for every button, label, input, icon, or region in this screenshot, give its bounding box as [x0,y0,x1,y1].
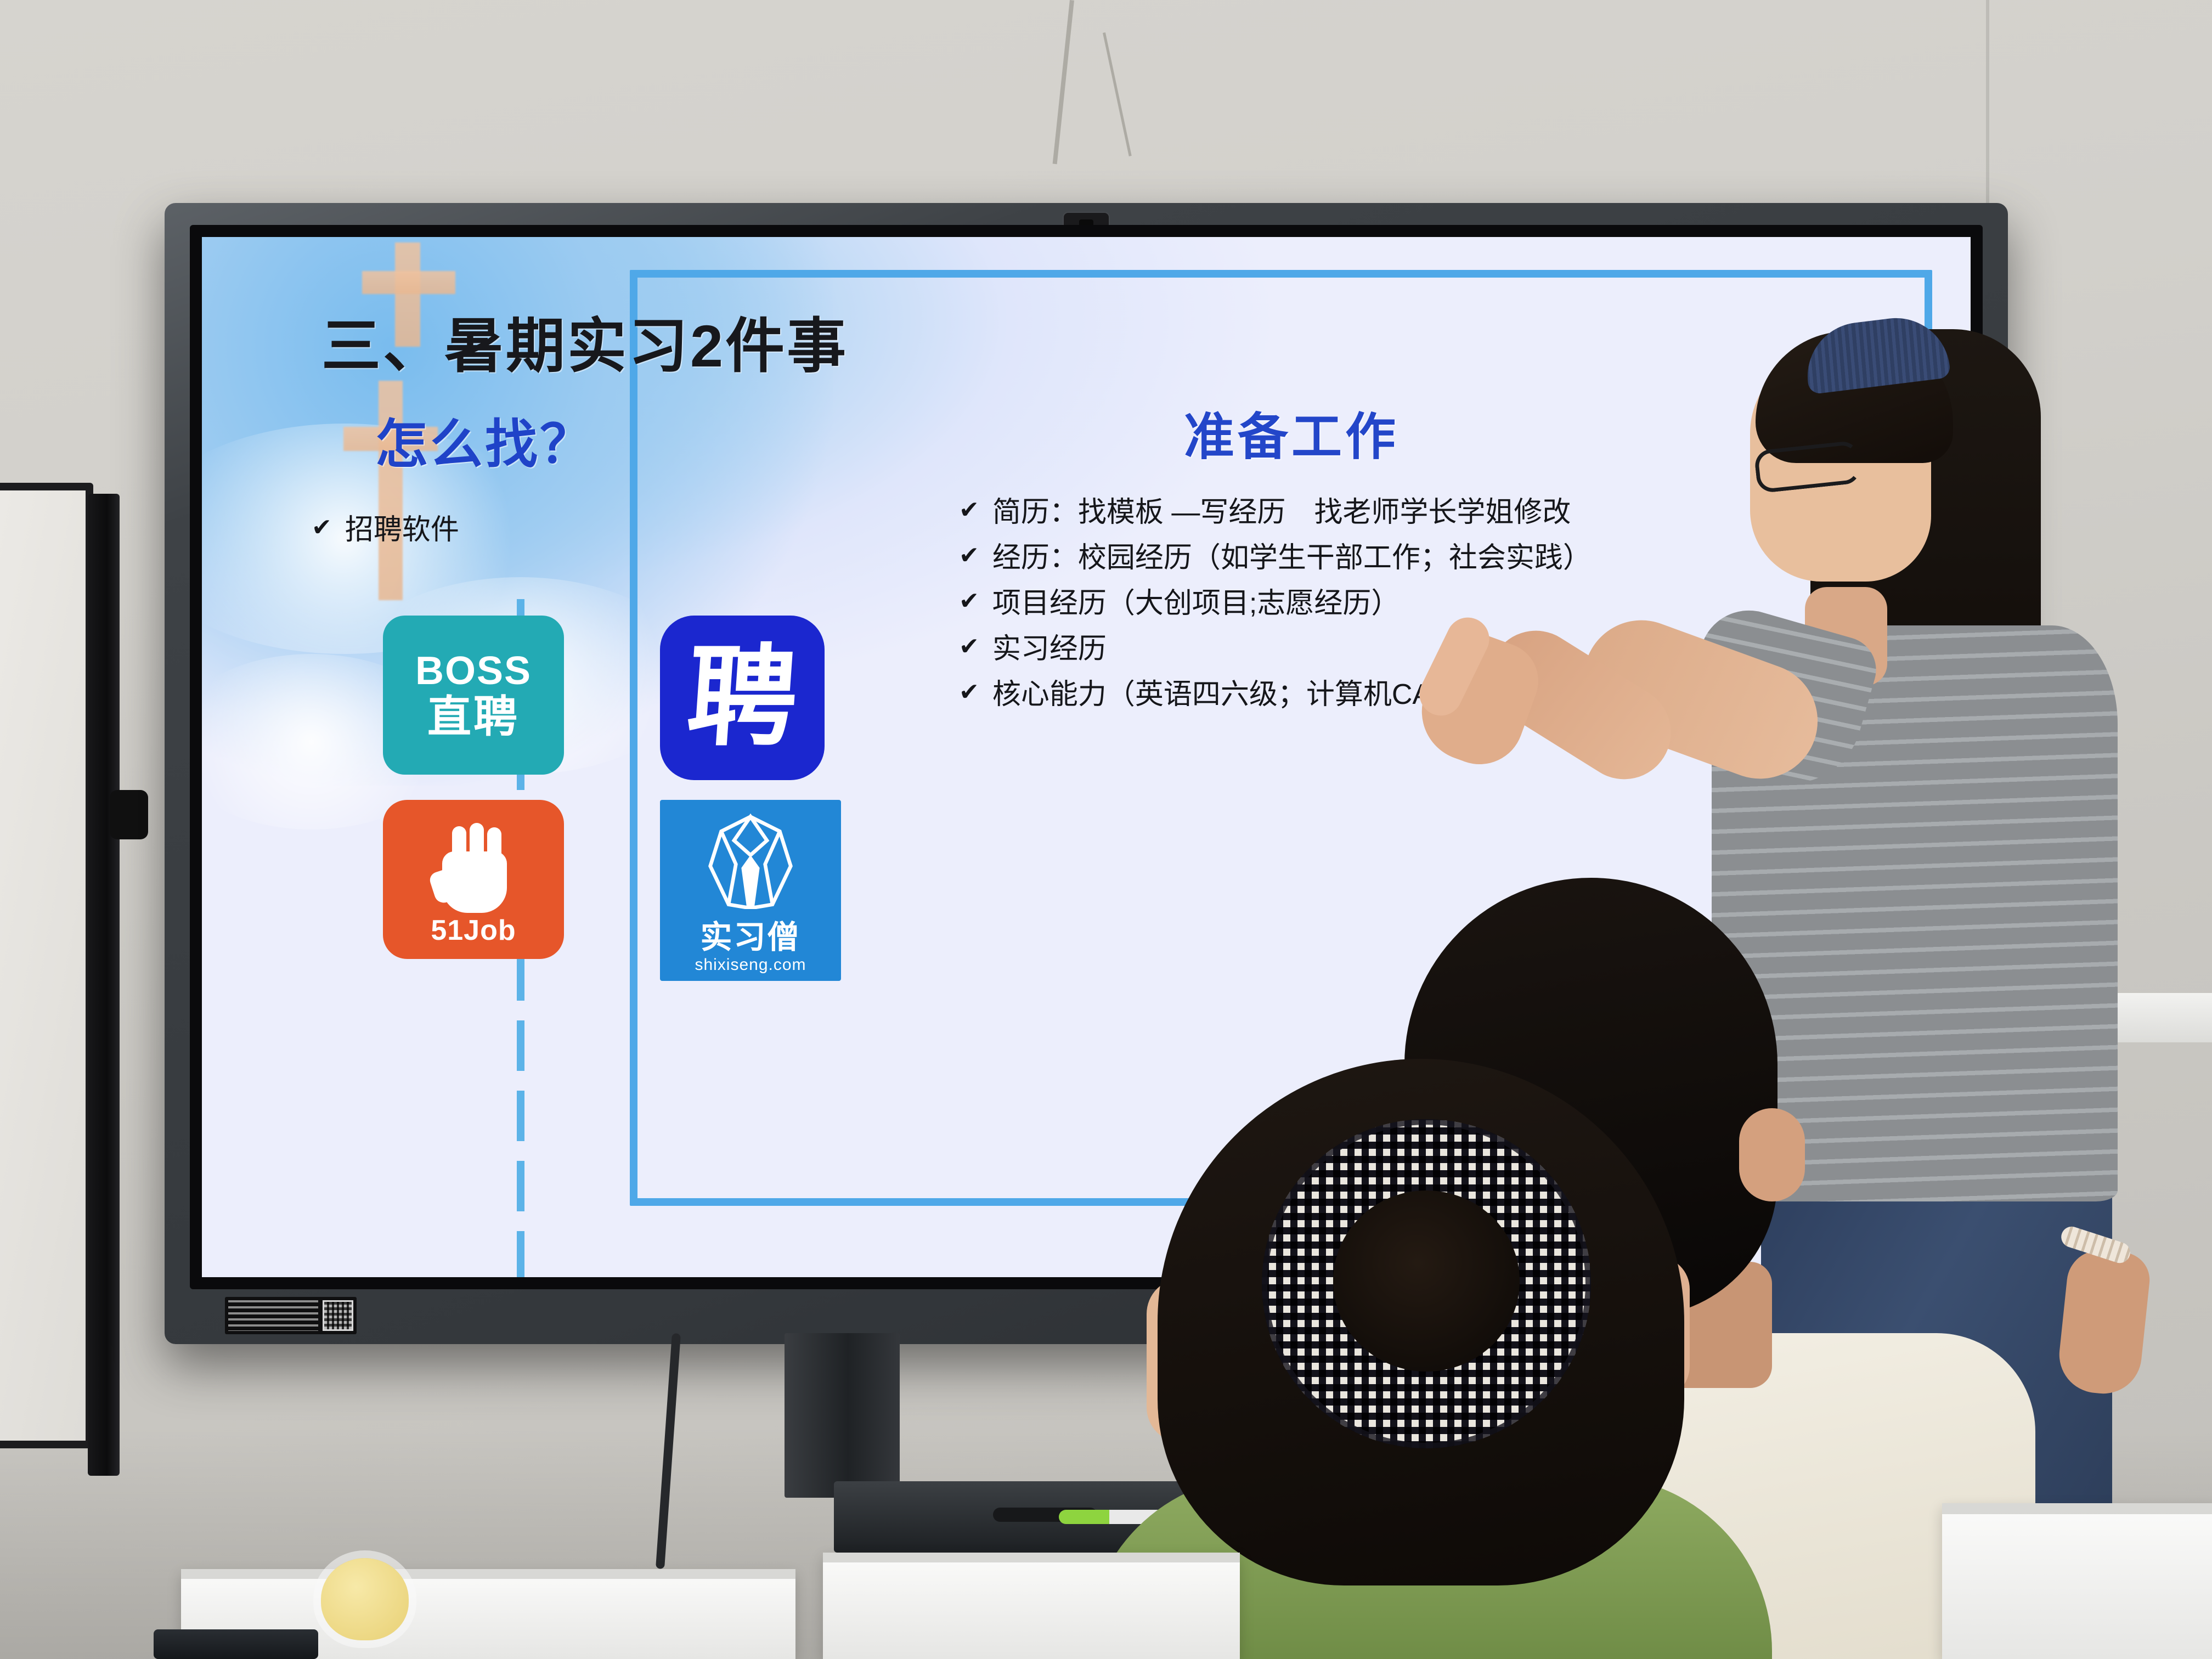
check-icon: ✔ [959,631,979,662]
desk-front-left-edge [181,1569,795,1579]
list-item: ✔ 招聘软件 [312,512,761,548]
check-icon: ✔ [959,677,979,707]
desk-right [1942,1503,2212,1659]
shixiseng-logo-label: 实习僧 [700,922,800,953]
list-item-label: 经历：校园经历（如学生干部工作；社会实践） [992,540,1592,576]
classroom-photo-scene: Hisense 三、暑期实习2件事 [0,0,2212,1659]
list-item: ✔ 项目经历（大创项目;志愿经历） [959,586,1946,622]
slide-subtitle: 怎么找？ [375,402,595,478]
whiteboard [0,483,93,1448]
hair-bun [1333,1190,1520,1372]
desk-middle-edge [823,1553,1240,1562]
desk-middle [823,1553,1240,1659]
zhaopin-logo-glyph: 聘 [684,643,801,753]
shixiseng-logo: 实习僧 shixiseng.com [660,800,841,981]
check-icon: ✔ [959,495,979,525]
sticker-text-block [228,1300,318,1331]
cross-decoration-top-bar [362,271,455,294]
wrapped-pastry [321,1558,409,1640]
list-item-label: 简历：找模板 —写经历 找老师学长学姐修改 [992,495,1571,531]
display-stand-neck [785,1333,900,1498]
hand-icon [432,823,515,913]
check-icon: ✔ [312,512,332,543]
hand-finger [470,823,484,868]
slide-title: 三、暑期实习2件事 [321,298,848,384]
whiteboard-stand-post [88,494,120,1476]
phone-on-desk[interactable] [154,1629,318,1659]
boss-zhipin-logo: BOSS 直聘 [383,616,564,775]
recruiting-app-logo-grid: BOSS 直聘 聘 51Job [383,616,899,981]
51job-logo: 51Job [383,800,564,959]
suit-tie-icon [704,813,797,909]
qr-code-icon [323,1300,353,1331]
list-item-label: 实习经历 [992,631,1107,667]
hand-finger [487,827,501,868]
boss-logo-line1: BOSS [415,651,532,691]
zhaopin-logo: 聘 [660,616,825,780]
whiteboard-knob [110,790,148,839]
list-item-label: 项目经历（大创项目;志愿经历） [992,586,1400,622]
display-sticker [225,1297,357,1334]
check-icon: ✔ [959,586,979,616]
51job-logo-label: 51Job [431,914,516,947]
left-bullets-top: ✔ 招聘软件 [312,512,761,559]
hand-finger [452,826,466,867]
student-ear [1739,1108,1805,1201]
list-item-label: 招聘软件 [345,512,459,548]
side-table [2101,993,2212,1042]
right-column-heading: 准备工作 [1184,396,1399,469]
shixiseng-logo-url: shixiseng.com [695,957,806,973]
check-icon: ✔ [959,540,979,571]
boss-logo-line2: 直聘 [427,695,520,739]
desk-right-edge [1942,1503,2212,1514]
